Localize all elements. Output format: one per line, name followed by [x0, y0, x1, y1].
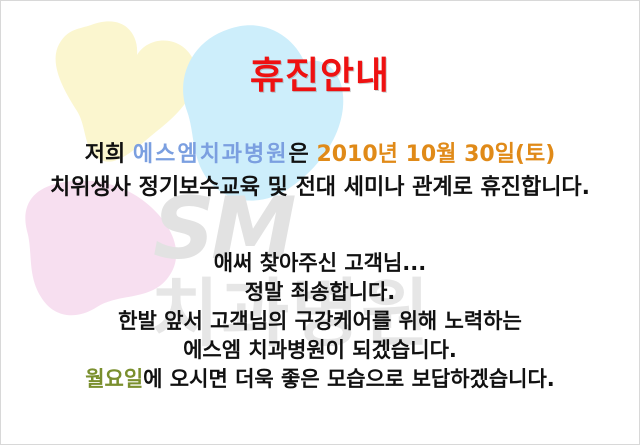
- primary-middle-text: 은: [289, 142, 317, 167]
- primary-line-1: 저희 에스엠치과병원은 2010년 10월 30일(토): [1, 138, 639, 171]
- apology-line-5: 월요일에 오시면 더욱 좋은 모습으로 보답하겠습니다.: [1, 365, 639, 394]
- apology-line-2: 정말 죄송합니다.: [1, 278, 639, 307]
- apology-line-3: 한발 앞서 고객님의 구강케어를 위해 노력하는: [1, 307, 639, 336]
- closure-date-highlight: 2010년 10월 30일(토): [316, 142, 555, 167]
- page-title: 휴진안내: [1, 45, 639, 99]
- apology-line-4: 에스엠 치과병원이 되겠습니다.: [1, 336, 639, 365]
- closure-notice-poster: SM 치과병원 휴진안내 저희 에스엠치과병원은 2010년 10월 30일(토…: [0, 0, 640, 445]
- notice-content: 휴진안내 저희 에스엠치과병원은 2010년 10월 30일(토) 치위생사 정…: [1, 1, 639, 444]
- apology-line-1: 애써 찾아주신 고객님...: [1, 249, 639, 278]
- reopen-invitation-text: 에 오시면 더욱 좋은 모습으로 보답하겠습니다.: [143, 367, 555, 391]
- clinic-name-highlight: 에스엠치과병원: [133, 142, 289, 167]
- primary-closure-statement: 저희 에스엠치과병원은 2010년 10월 30일(토) 치위생사 정기보수교육…: [1, 138, 639, 204]
- primary-line-2: 치위생사 정기보수교육 및 전대 세미나 관계로 휴진합니다.: [1, 171, 639, 204]
- monday-highlight: 월요일: [85, 367, 143, 391]
- primary-prefix-text: 저희: [85, 142, 133, 167]
- apology-statement: 애써 찾아주신 고객님... 정말 죄송합니다. 한발 앞서 고객님의 구강케어…: [1, 249, 639, 394]
